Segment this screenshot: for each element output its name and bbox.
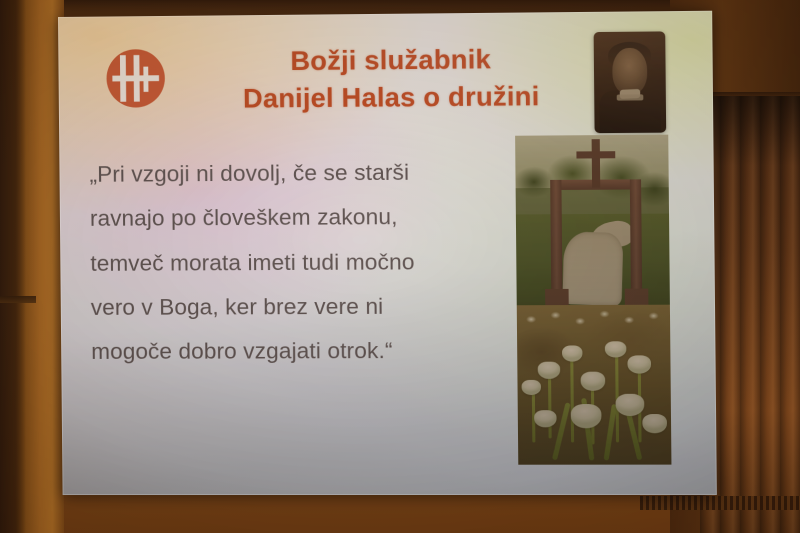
portrait-photo — [594, 31, 667, 133]
quote-line-5: mogoče dobro vzgajati otrok.“ — [91, 329, 546, 375]
quote-line-1: „Pri vzgoji ni dovolj, če se starši — [89, 150, 544, 197]
projection-screen: Božji služabnik Danijel Halas o družini … — [58, 11, 717, 495]
room-baseboard — [640, 496, 800, 510]
slide-quote: „Pri vzgoji ni dovolj, če se starši ravn… — [89, 150, 546, 375]
curtain-shadow — [700, 96, 800, 166]
flowers-photo-tone — [517, 305, 672, 465]
slide-title-line-1: Božji služabnik — [179, 40, 605, 81]
portrait-sepia-tone — [594, 31, 667, 133]
quote-line-3: temveč morata imeti tudi močno — [90, 239, 545, 286]
memorial-archway-photo — [515, 135, 670, 306]
quote-line-2: ravnajo po človeškem zakonu, — [90, 194, 545, 241]
photo-scene: Božji služabnik Danijel Halas o družini … — [0, 0, 800, 533]
archway-photo-tone — [515, 135, 670, 306]
pillar-notch — [0, 296, 36, 303]
hd-cross-logo-icon — [104, 47, 167, 110]
room-left-shadow — [0, 0, 26, 533]
slide-title: Božji služabnik Danijel Halas o družini — [179, 40, 605, 117]
quote-line-4: vero v Boga, ker brez vere ni — [91, 284, 546, 330]
snowdrop-flowers-photo — [517, 305, 672, 465]
slide-title-line-2: Danijel Halas o družini — [179, 77, 605, 117]
